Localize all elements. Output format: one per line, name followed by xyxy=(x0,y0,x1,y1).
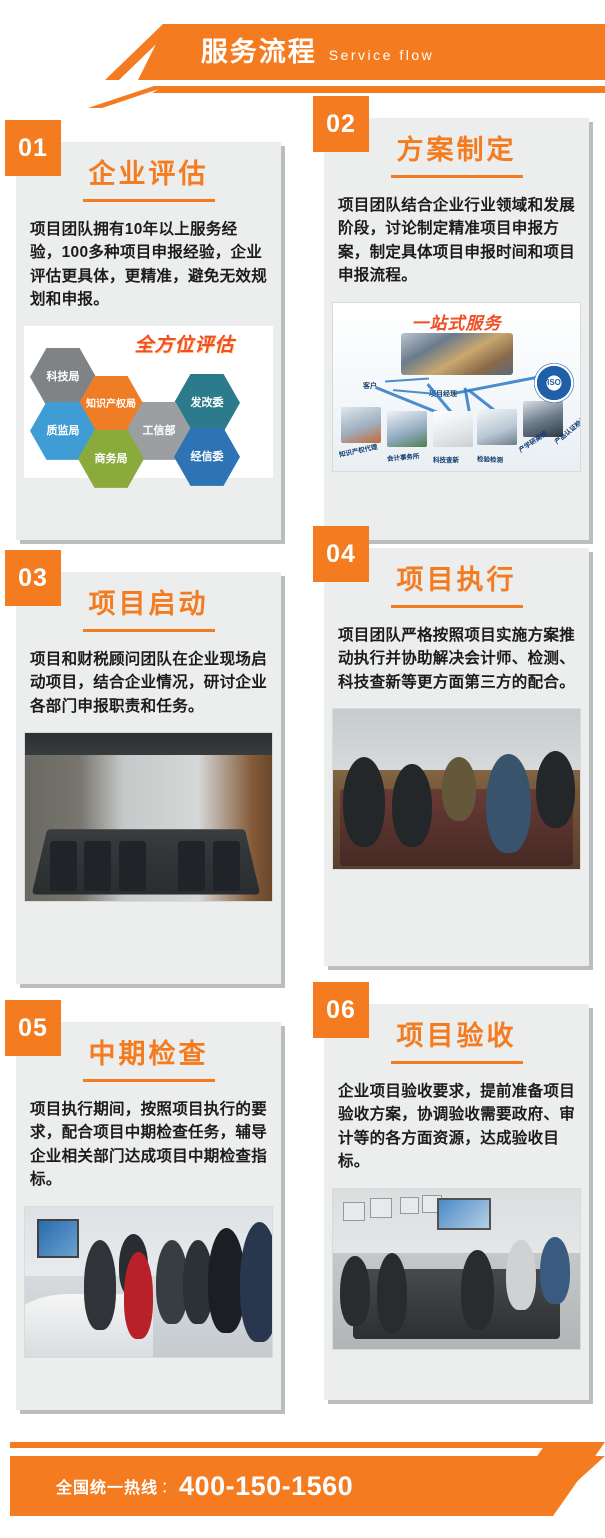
step-body-04: 项目团队严格按照项目实施方案推动执行并协助解决会计师、检测、科技查新等更方面第三… xyxy=(324,608,589,709)
onestop-node-search xyxy=(433,411,473,447)
onestop-foot-search: 科技查新 xyxy=(433,454,459,464)
photo-wall-frame xyxy=(370,1198,392,1217)
footer-accent-line xyxy=(10,1442,605,1448)
step-number-badge-05: 05 xyxy=(5,1000,61,1056)
step-media-03 xyxy=(16,732,281,910)
cards-row-3: 05 中期检查 项目执行期间，按照项目执行的要求，配合项目中期检查任务，辅导企业… xyxy=(0,1010,605,1430)
photo-acceptance-meeting xyxy=(333,1189,580,1349)
step-number-badge-01: 01 xyxy=(5,120,61,176)
onestop-foot-ip: 知识产权代理 xyxy=(338,441,378,459)
photo-person xyxy=(208,1228,245,1333)
photo-person xyxy=(442,757,477,821)
onestop-title: 一站式服务 xyxy=(333,309,580,334)
photo-person xyxy=(240,1222,272,1342)
photo-counter xyxy=(25,1294,153,1357)
photo-frame-05 xyxy=(24,1206,273,1358)
step-number-badge-04: 04 xyxy=(313,526,369,582)
photo-chair xyxy=(119,841,146,891)
cards-row-1: 01 企业评估 项目团队拥有10年以上服务经验，100多种项目申报经验，企业评估… xyxy=(0,108,605,548)
photo-table xyxy=(340,789,572,866)
photo-projector-screen xyxy=(437,1198,491,1230)
photo-wall-frame xyxy=(422,1195,442,1213)
photo-chair xyxy=(178,841,205,891)
step-card-05[interactable]: 05 中期检查 项目执行期间，按照项目执行的要求，配合项目中期检查任务，辅导企业… xyxy=(16,1022,281,1410)
photo-person xyxy=(506,1240,536,1310)
photo-table xyxy=(353,1269,560,1339)
photo-team-working xyxy=(333,709,580,869)
photo-wall-frame xyxy=(343,1202,365,1221)
step-number-badge-02: 02 xyxy=(313,96,369,152)
step-card-03[interactable]: 03 项目启动 项目和财税顾问团队在企业现场启动项目，结合企业情况，研讨企业各部… xyxy=(16,572,281,984)
step-media-04 xyxy=(324,708,589,878)
photo-person xyxy=(486,754,530,853)
page-footer: 全国统一热线 ： 400-150-1560 xyxy=(0,1424,605,1538)
onestop-foot-testing: 检验检测 xyxy=(477,453,503,464)
hotline-colon: ： xyxy=(161,1476,176,1497)
photo-frame-03 xyxy=(24,732,273,902)
photo-person xyxy=(340,1256,370,1326)
onestop-foot-accounting: 会计事务所 xyxy=(387,450,420,463)
service-flow-infographic: 服务流程 Service flow 01 企业评估 项目团队拥有10年以上服务经… xyxy=(0,0,605,1538)
photo-wall-frame xyxy=(400,1197,420,1215)
footer-hotline-group[interactable]: 全国统一热线 ： 400-150-1560 xyxy=(56,1456,353,1516)
step-body-01: 项目团队拥有10年以上服务经验，100多种项目申报经验，企业评估更具体，更精准，… xyxy=(16,202,281,326)
header-accent-triangle-small xyxy=(88,86,168,108)
step-body-06: 企业项目验收要求，提前准备项目验收方案，协调验收需要政府、审计等的各方面资源，达… xyxy=(324,1064,589,1188)
step-media-05 xyxy=(16,1206,281,1366)
step-media-01: 全方位评估 科技局 知识产权局 发改委 质监局 工信部 商务局 经信委 xyxy=(16,326,281,486)
step-number-badge-06: 06 xyxy=(313,982,369,1038)
step-body-03: 项目和财税顾问团队在企业现场启动项目，结合企业情况，研讨企业各部门申报职责和任务… xyxy=(16,632,281,733)
photo-person xyxy=(536,751,576,828)
photo-table xyxy=(32,829,261,894)
onestop-node-testing xyxy=(477,409,517,445)
cards-grid: 01 企业评估 项目团队拥有10年以上服务经验，100多种项目申报经验，企业评估… xyxy=(0,108,605,1430)
photo-person xyxy=(84,1240,116,1330)
hotline-number[interactable]: 400-150-1560 xyxy=(179,1471,353,1502)
onestop-certification-seal: ISO xyxy=(534,363,574,403)
photo-meeting-room xyxy=(25,733,272,901)
hotline-label: 全国统一热线 xyxy=(56,1474,158,1498)
photo-site-visit xyxy=(25,1207,272,1357)
step-body-02: 项目团队结合企业行业领域和发展阶段，讨论制定精准项目申报方案，制定具体项目申报时… xyxy=(324,178,589,302)
photo-chair xyxy=(213,841,240,891)
page-header: 服务流程 Service flow xyxy=(0,0,605,108)
step-media-02: 一站式服务 客户 项目经理 xyxy=(324,302,589,480)
photo-person xyxy=(392,764,432,847)
photo-person xyxy=(343,757,385,847)
onestop-center-photo xyxy=(401,333,513,375)
header-banner-bar xyxy=(138,24,605,80)
photo-person xyxy=(377,1253,407,1333)
photo-person xyxy=(540,1237,570,1304)
step-body-05: 项目执行期间，按照项目执行的要求，配合项目中期检查任务，辅导企业相关部门达成项目… xyxy=(16,1082,281,1206)
hex-diagram-title: 全方位评估 xyxy=(102,330,267,357)
onestop-node-ip xyxy=(341,407,381,443)
photo-person xyxy=(156,1240,188,1324)
step-number-badge-03: 03 xyxy=(5,550,61,606)
photo-frame-06 xyxy=(332,1188,581,1350)
photo-person xyxy=(461,1250,493,1330)
photo-frame-04 xyxy=(332,708,581,870)
step-card-04[interactable]: 04 项目执行 项目团队严格按照项目实施方案推动执行并协助解决会计师、检测、科技… xyxy=(324,548,589,966)
onestop-diagram: 一站式服务 客户 项目经理 xyxy=(332,302,581,472)
cards-row-2: 03 项目启动 项目和财税顾问团队在企业现场启动项目，结合企业情况，研讨企业各部… xyxy=(0,548,605,1010)
photo-person-red-coat xyxy=(124,1252,154,1339)
step-card-06[interactable]: 06 项目验收 企业项目验收要求，提前准备项目验收方案，协调验收需要政府、审计等… xyxy=(324,1004,589,1400)
step-card-02[interactable]: 02 方案制定 项目团队结合企业行业领域和发展阶段，讨论制定精准项目申报方案，制… xyxy=(324,118,589,540)
photo-person xyxy=(119,1234,149,1297)
photo-person xyxy=(183,1240,213,1324)
photo-chair xyxy=(84,841,111,891)
onestop-arrow-1 xyxy=(385,377,429,382)
onestop-node-accounting xyxy=(387,411,427,447)
header-banner-underline xyxy=(152,86,605,93)
hex-diagram: 全方位评估 科技局 知识产权局 发改委 质监局 工信部 商务局 经信委 xyxy=(24,326,273,478)
step-media-06 xyxy=(324,1188,589,1358)
photo-display-screen xyxy=(37,1219,79,1258)
step-card-01[interactable]: 01 企业评估 项目团队拥有10年以上服务经验，100多种项目申报经验，企业评估… xyxy=(16,142,281,540)
photo-chair xyxy=(50,841,77,891)
